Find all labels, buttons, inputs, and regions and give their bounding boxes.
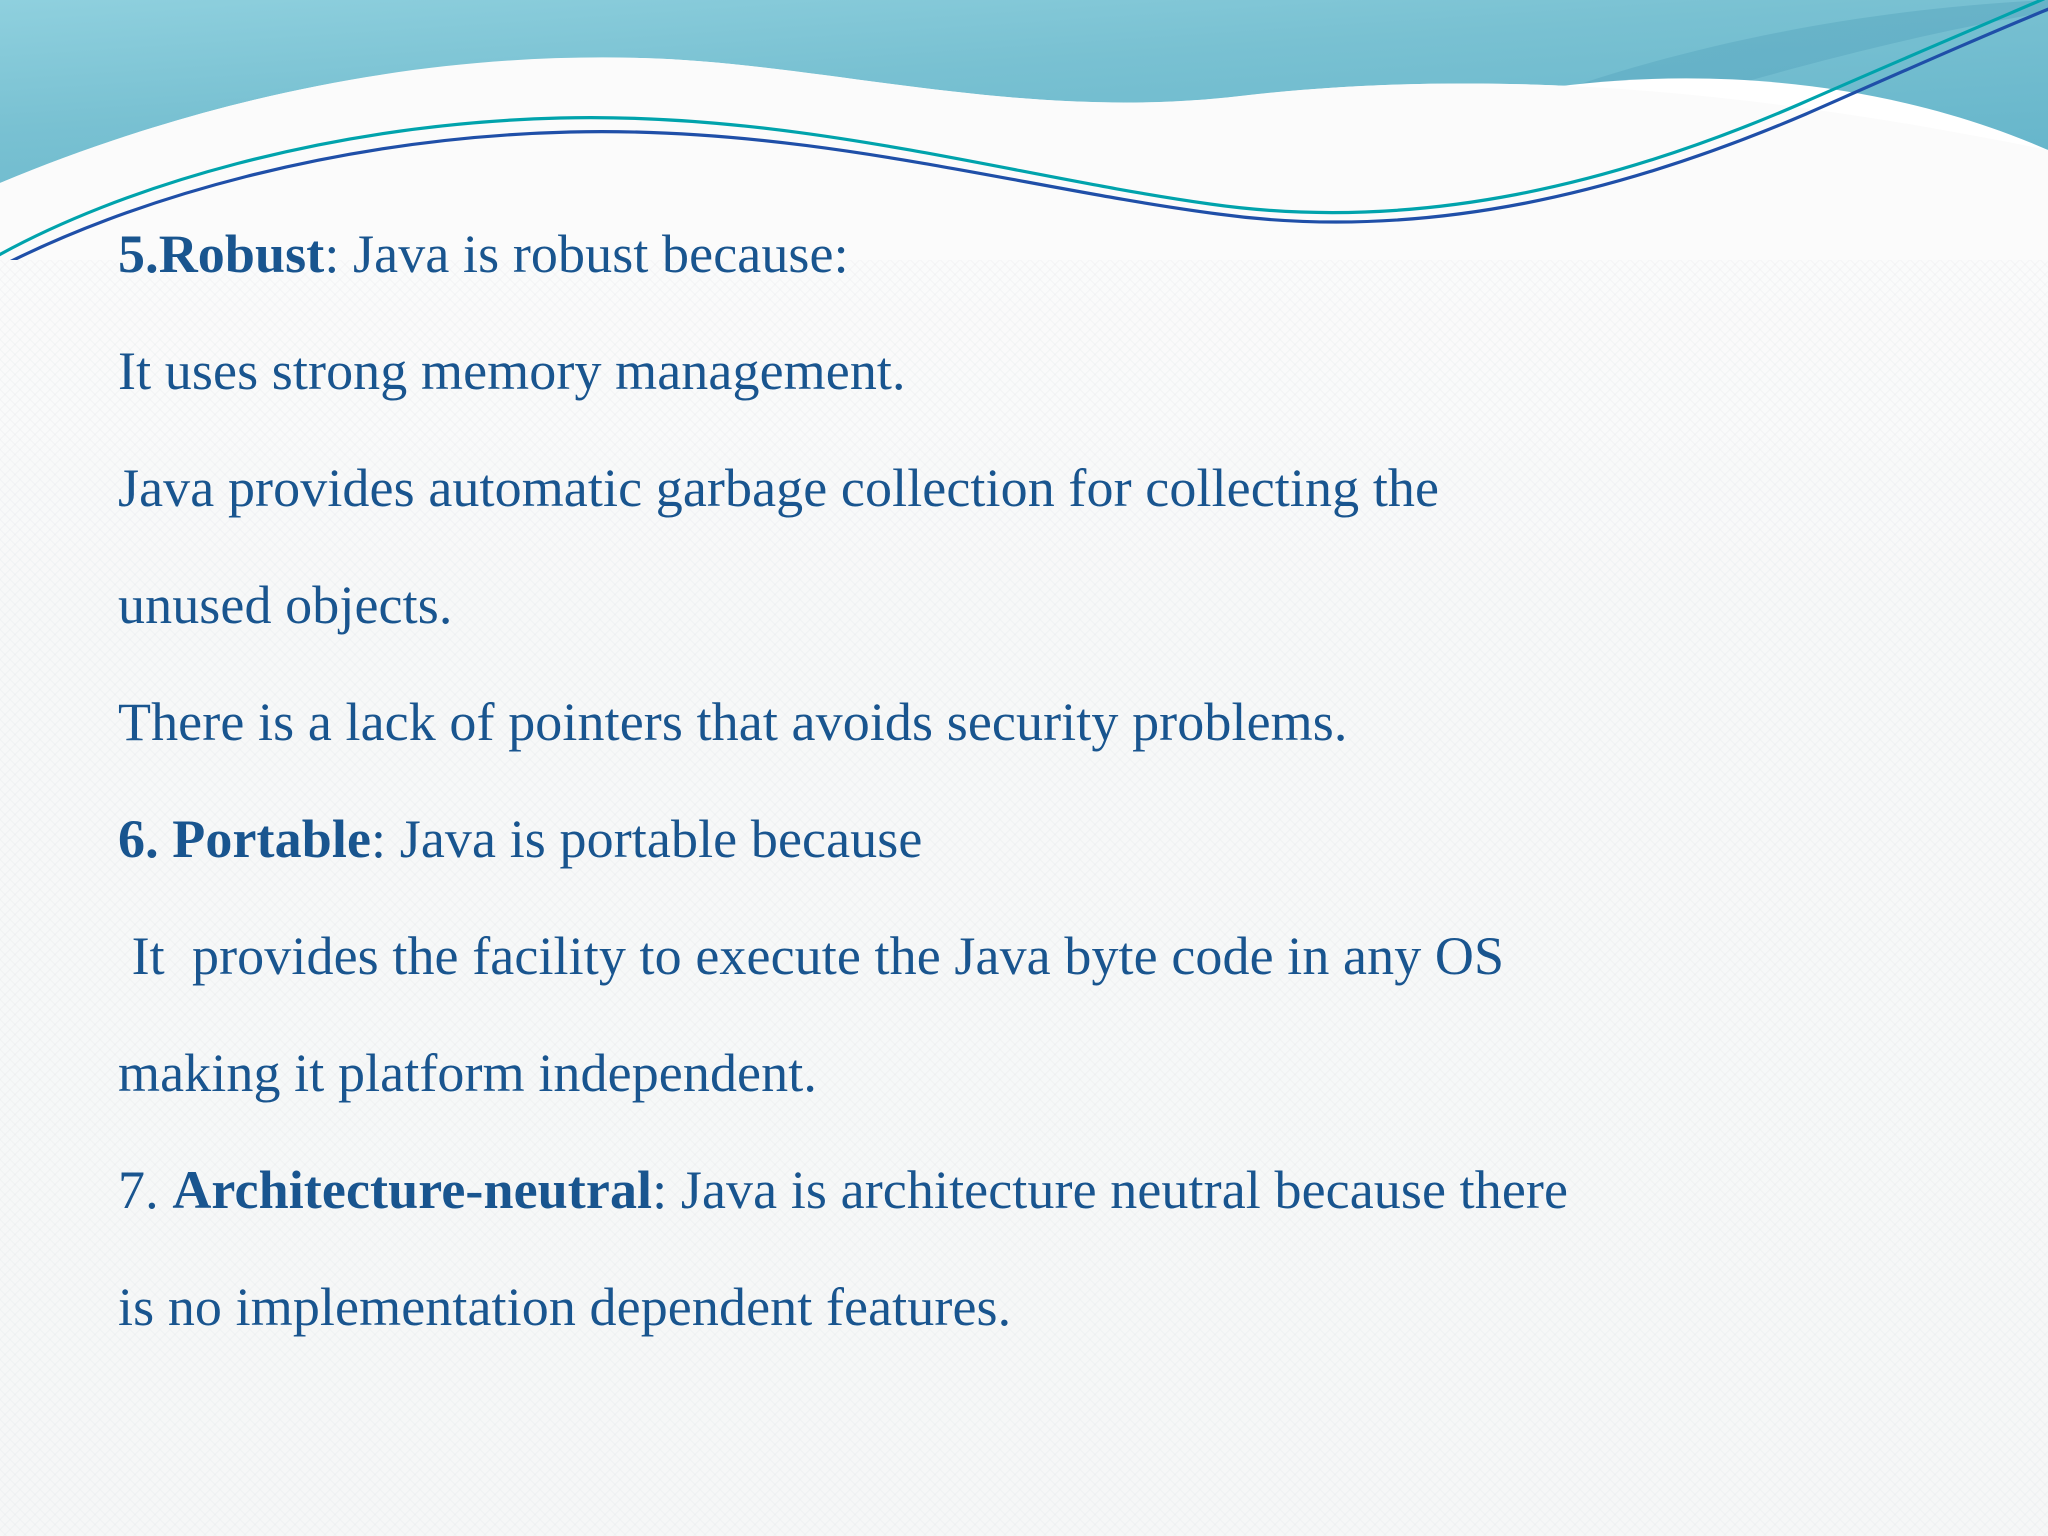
portable-text: : Java is portable because (371, 809, 922, 869)
line-memory: It uses strong memory management. (118, 313, 1978, 430)
line-pointers: There is a lack of pointers that avoids … (118, 664, 1978, 781)
memory-text: It uses strong memory management. (118, 341, 906, 401)
line-portable-1: It provides the facility to execute the … (118, 898, 1978, 1015)
line-portable-2: making it platform independent. (118, 1015, 1978, 1132)
line-portable-heading: 6. Portable: Java is portable because (118, 781, 1978, 898)
presentation-slide: 5.Robust: Java is robust because: It use… (0, 0, 2048, 1536)
garbage-text-1: Java provides automatic garbage collecti… (118, 458, 1439, 518)
architecture-body-2: is no implementation dependent features. (118, 1277, 1011, 1337)
portable-label: 6. Portable (118, 809, 371, 869)
line-arch-2: is no implementation dependent features. (118, 1249, 1978, 1366)
teal-overlay-swoosh (1240, 0, 2048, 198)
line-robust-heading: 5.Robust: Java is robust because: (118, 196, 1978, 313)
pointers-text: There is a lack of pointers that avoids … (118, 692, 1347, 752)
architecture-number: 7. (118, 1160, 172, 1220)
robust-text: : Java is robust because: (324, 224, 848, 284)
line-garbage-1: Java provides automatic garbage collecti… (118, 430, 1978, 547)
teal-gradient-band (0, 0, 2048, 183)
garbage-text-2: unused objects. (118, 575, 452, 635)
portable-body-1: It provides the facility to execute the … (118, 926, 1504, 986)
robust-label: 5.Robust (118, 224, 324, 284)
architecture-text: : Java is architecture neutral because t… (652, 1160, 1568, 1220)
portable-body-2: making it platform independent. (118, 1043, 817, 1103)
slide-body-text: 5.Robust: Java is robust because: It use… (118, 196, 1978, 1366)
line-garbage-2: unused objects. (118, 547, 1978, 664)
architecture-label: Architecture-neutral (172, 1160, 652, 1220)
line-arch-heading: 7. Architecture-neutral: Java is archite… (118, 1132, 1978, 1249)
